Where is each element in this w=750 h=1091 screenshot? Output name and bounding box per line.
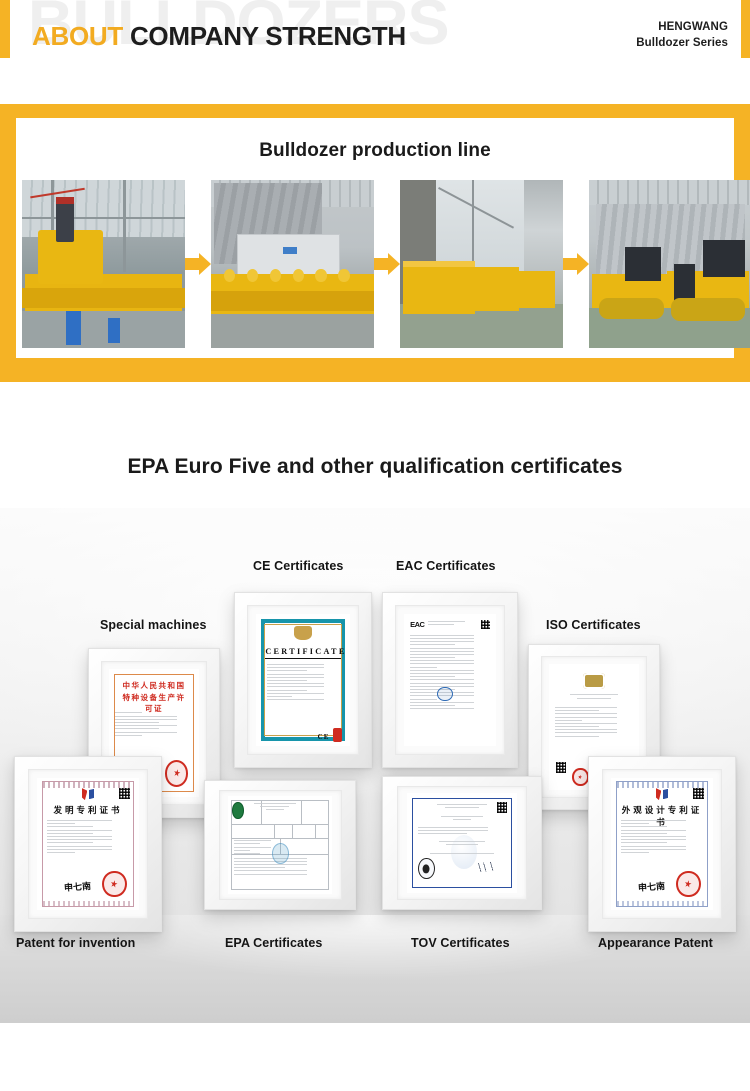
production-photo-2[interactable] (211, 180, 374, 348)
document-text-block (47, 820, 128, 855)
qr-code-icon (119, 788, 129, 799)
document-subject-lines (433, 841, 490, 845)
patent-office-logo-icon (82, 788, 94, 800)
dozer-blade (473, 267, 519, 311)
production-line-title: Bulldozer production line (16, 140, 734, 162)
certificate-label-iso: ISO Certificates (546, 618, 641, 632)
bulldozer-cab (703, 240, 745, 277)
roof-beam (22, 217, 185, 219)
document-text-block (115, 712, 192, 738)
certificate-document-appearance-patent: 外观设计专利证书 申七南 (611, 778, 712, 911)
certification-badge-icon (333, 728, 341, 743)
production-line-panel: Bulldozer production line (0, 104, 750, 382)
cabinet-label (283, 247, 298, 254)
eac-logo-icon: EAC (410, 620, 424, 629)
document-heading-lines (563, 694, 624, 702)
document-ornament-top (43, 782, 132, 789)
certificate-frame-appearance-patent[interactable]: 外观设计专利证书 申七南 (588, 756, 736, 932)
certificate-document-patent-invention: 发明专利证书 申七南 (37, 778, 138, 911)
frame-mat (397, 786, 527, 900)
about-company-strength-page: BULLDOZERS ABOUTCOMPANY STRENGTH HENGWAN… (0, 0, 750, 1091)
flow-arrow-icon-3 (563, 253, 589, 275)
certificate-word: CERTIFICATE (265, 647, 340, 656)
certificate-frame-epa[interactable] (204, 780, 356, 910)
red-seal-stamp (572, 768, 588, 786)
brand-block: HENGWANG Bulldozer Series (636, 19, 728, 52)
document-text-block (267, 664, 339, 702)
qr-code-icon (481, 620, 490, 629)
roller (338, 269, 349, 282)
frame-mat: 发明专利证书 申七南 (28, 769, 148, 919)
support-stand (66, 311, 81, 345)
logo-left-wing (82, 788, 87, 800)
page-title-rest: COMPANY STRENGTH (130, 21, 406, 51)
roller (315, 269, 326, 282)
certificate-frame-ce[interactable]: CERTIFICATE CE (234, 592, 372, 768)
certificates-gallery: 中华人民共和国特种设备生产许可证 CERTIFICATE (0, 508, 750, 1023)
document-text-block (555, 707, 632, 739)
document-heading: 中华人民共和国特种设备生产许可证 (120, 680, 188, 714)
document-heading-lines (249, 803, 301, 810)
grid-line (315, 824, 316, 838)
logo-left-wing (656, 788, 661, 800)
grid-line (274, 824, 275, 838)
signature: 申七南 (637, 879, 665, 894)
certificates-section-title: EPA Euro Five and other qualification ce… (0, 455, 750, 479)
column (123, 180, 126, 272)
frame-mat: EAC (395, 605, 505, 755)
crest-emblem-icon (294, 626, 313, 641)
certificate-label-patent-invention: Patent for invention (16, 936, 135, 950)
document-subheading-lines (436, 816, 489, 820)
certificate-label-epa: EPA Certificates (225, 936, 322, 950)
document-heading-lines (431, 804, 492, 810)
track-frames-shadow (211, 291, 374, 311)
page-title: ABOUTCOMPANY STRENGTH (32, 23, 406, 49)
certificate-document-epa (228, 796, 332, 893)
support-stand (108, 318, 119, 343)
header-accent-bar-left (0, 0, 10, 58)
certificate-document-ce: CERTIFICATE CE (256, 614, 350, 747)
crest-emblem-icon (583, 673, 605, 689)
logo-right-wing (663, 789, 668, 800)
grid-line (292, 824, 293, 838)
patent-office-logo-icon (656, 788, 668, 800)
document-ornament-top (617, 782, 706, 789)
track-assembly (671, 298, 746, 322)
dozer-blade (403, 264, 475, 314)
workshop-floor (22, 311, 185, 348)
document-text-block (410, 635, 490, 712)
document-note-lines (423, 853, 502, 854)
document-text-block (418, 827, 506, 837)
production-line-strip (22, 180, 728, 348)
brand-name: HENGWANG (636, 19, 728, 35)
document-ornament-bottom (43, 901, 132, 906)
exhaust-stack (56, 202, 74, 242)
certificate-label-ce: CE Certificates (253, 559, 343, 573)
workshop-roof (22, 180, 185, 237)
certificate-frame-eac[interactable]: EAC (382, 592, 518, 768)
certificate-frame-patent-invention[interactable]: 发明专利证书 申七南 (14, 756, 162, 932)
frame-mat: CERTIFICATE CE (247, 605, 359, 755)
arrow-head (577, 253, 589, 275)
workshop-floor (211, 314, 374, 348)
workshop-roof (589, 180, 750, 205)
brand-series: Bulldozer Series (636, 35, 728, 51)
blade-top-edge (403, 261, 475, 268)
flow-arrow-icon-1 (185, 253, 211, 275)
certificate-frame-tov[interactable] (382, 776, 542, 910)
ce-mark-icon: CE (318, 733, 330, 741)
document-heading-lines (428, 621, 474, 627)
arrow-head (199, 253, 211, 275)
blue-seal-stamp (437, 687, 453, 702)
dozer-blade (516, 271, 555, 308)
qr-code-icon (693, 788, 703, 799)
frame-mat: 外观设计专利证书 申七南 (602, 769, 722, 919)
epa-logo-icon (232, 802, 243, 819)
red-seal-stamp (165, 760, 188, 787)
certificate-document-tov (407, 793, 517, 893)
production-line-inner: Bulldozer production line (16, 118, 734, 358)
dozer-frame-shadow (22, 288, 185, 308)
round-seal-stamp (418, 858, 434, 879)
header-accent-bar-right (741, 0, 750, 58)
certificate-document-eac: EAC (404, 614, 497, 747)
document-text-block (621, 820, 702, 855)
bulldozer-cab (625, 247, 661, 281)
certificate-label-appearance-patent: Appearance Patent (598, 936, 713, 950)
qr-code-icon (497, 802, 507, 813)
page-title-accent: ABOUT (32, 21, 123, 51)
certificate-label-tov: TOV Certificates (411, 936, 510, 950)
page-header: BULLDOZERS ABOUTCOMPANY STRENGTH HENGWAN… (0, 0, 750, 88)
frame-mat (219, 790, 342, 900)
qr-code-icon (556, 762, 566, 773)
production-photo-1[interactable] (22, 180, 185, 348)
red-seal-stamp (102, 871, 126, 898)
exhaust-cap (56, 197, 74, 204)
production-photo-4[interactable] (589, 180, 750, 348)
red-seal-stamp (676, 871, 700, 898)
signature: 申七南 (63, 879, 91, 894)
flow-arrow-icon-2 (374, 253, 400, 275)
certificate-label-special-machines: Special machines (100, 618, 207, 632)
certificate-label-eac: EAC Certificates (396, 559, 496, 573)
production-photo-3[interactable] (400, 180, 563, 348)
document-heading: 发明专利证书 (47, 804, 128, 816)
title-rule (265, 658, 340, 659)
track-assembly (599, 298, 664, 320)
logo-right-wing (89, 789, 94, 800)
arrow-head (388, 253, 400, 275)
grid-line (301, 801, 302, 824)
document-ornament-bottom (617, 901, 706, 906)
